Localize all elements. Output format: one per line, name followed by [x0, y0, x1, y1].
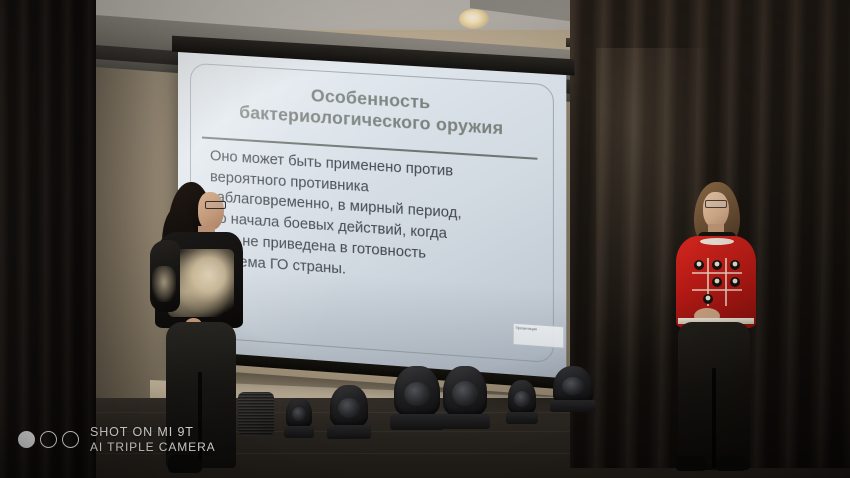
shoe-left: [676, 456, 706, 471]
sweater-neckline-trim: [700, 238, 734, 245]
slide-watermark: Презентация: [513, 323, 565, 349]
camera-watermark: SHOT ON MI 9T AI TRIPLE CAMERA: [18, 424, 216, 455]
shoe: [168, 455, 202, 473]
projection-screen: Особенность бактериологического оружия О…: [178, 52, 566, 397]
glasses-icon: [705, 200, 727, 208]
trouser-seam: [712, 368, 716, 468]
lens-dot-filled-icon: [18, 431, 35, 448]
glasses-icon: [205, 201, 226, 209]
watermark-line2: AI TRIPLE CAMERA: [90, 440, 216, 455]
slide-body-text: Оно может быть применено против вероятно…: [210, 146, 533, 293]
camera-lens-dots-icon: [18, 431, 79, 448]
face: [703, 192, 729, 228]
sleeve-print: [152, 266, 176, 302]
lens-dot-icon: [62, 431, 79, 448]
lens-dot-icon: [40, 431, 57, 448]
camera-watermark-text: SHOT ON MI 9T AI TRIPLE CAMERA: [90, 424, 216, 455]
projected-slide: Особенность бактериологического оружия О…: [178, 52, 566, 380]
ceiling-light-icon: [459, 9, 489, 29]
curtain-left: [0, 0, 96, 478]
sweater-pattern: [690, 256, 744, 308]
face: [198, 192, 224, 230]
stage-speaker-monitor: [238, 392, 274, 436]
watermark-line1: SHOT ON MI 9T: [90, 424, 216, 440]
shoe-right: [716, 456, 746, 471]
photo-scene: Особенность бактериологического оружия О…: [0, 0, 850, 478]
